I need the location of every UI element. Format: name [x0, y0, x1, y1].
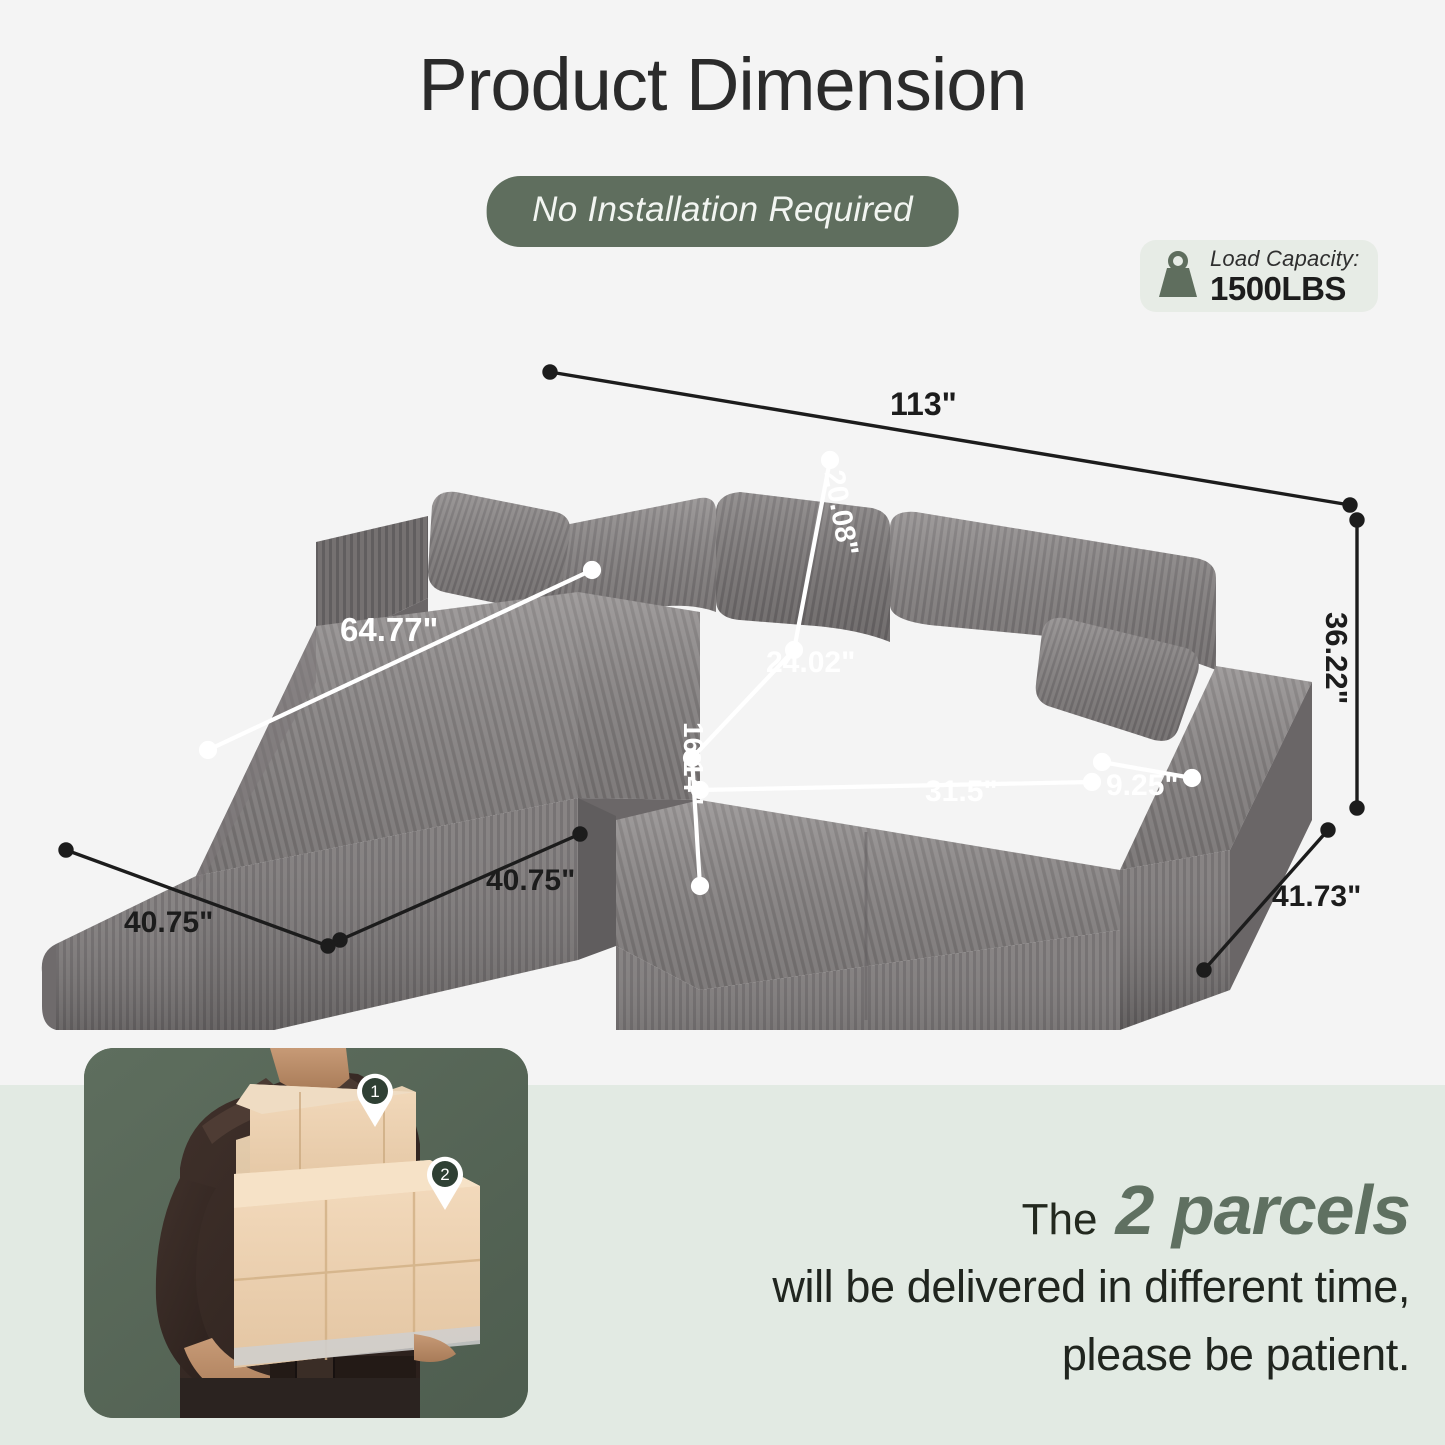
parcel-pin-1: 1 [352, 1070, 398, 1128]
parcel-pin-2: 2 [422, 1153, 468, 1211]
infographic-root: Product Dimension No Installation Requir… [0, 0, 1445, 1445]
delivery-line-3: please be patient. [640, 1329, 1410, 1381]
dimension-label-sofa-depth: 41.73" [1272, 882, 1361, 912]
dimension-label-armrest-width: 9.25" [1106, 771, 1179, 801]
delivery-headline: The2 parcels [640, 1175, 1410, 1245]
delivery-message: The2 parcels will be delivered in differ… [640, 1175, 1410, 1381]
dimension-label-seat-depth: 24.02" [766, 648, 855, 678]
delivery-headline-prefix: The [1022, 1195, 1098, 1244]
page-title: Product Dimension [0, 48, 1445, 122]
sofa-illustration [0, 330, 1445, 1030]
delivery-photo: 1 2 [84, 1048, 528, 1418]
dimension-label-seat-height: 16.14" [679, 722, 707, 805]
dimension-label-chaise-depth-side: 40.75" [124, 908, 213, 938]
load-capacity-badge: Load Capacity: 1500LBS [1140, 240, 1378, 312]
delivery-line-2: will be delivered in different time, [640, 1261, 1410, 1313]
load-capacity-text: Load Capacity: 1500LBS [1210, 248, 1360, 305]
load-capacity-label: Load Capacity: [1210, 248, 1360, 270]
dimension-label-seat-width: 31.5" [925, 777, 998, 807]
dimension-label-chaise-depth-front: 40.75" [486, 866, 575, 896]
load-capacity-value: 1500LBS [1210, 272, 1360, 305]
dimension-label-chaise-length: 64.77" [340, 613, 438, 646]
no-installation-badge: No Installation Required [486, 176, 959, 247]
dimension-label-overall-width: 113" [890, 388, 957, 420]
weight-icon [1154, 251, 1202, 301]
svg-text:1: 1 [370, 1082, 379, 1101]
svg-text:2: 2 [440, 1165, 449, 1184]
delivery-headline-highlight: 2 parcels [1115, 1171, 1410, 1249]
dimension-label-overall-height: 36.22" [1321, 612, 1352, 704]
